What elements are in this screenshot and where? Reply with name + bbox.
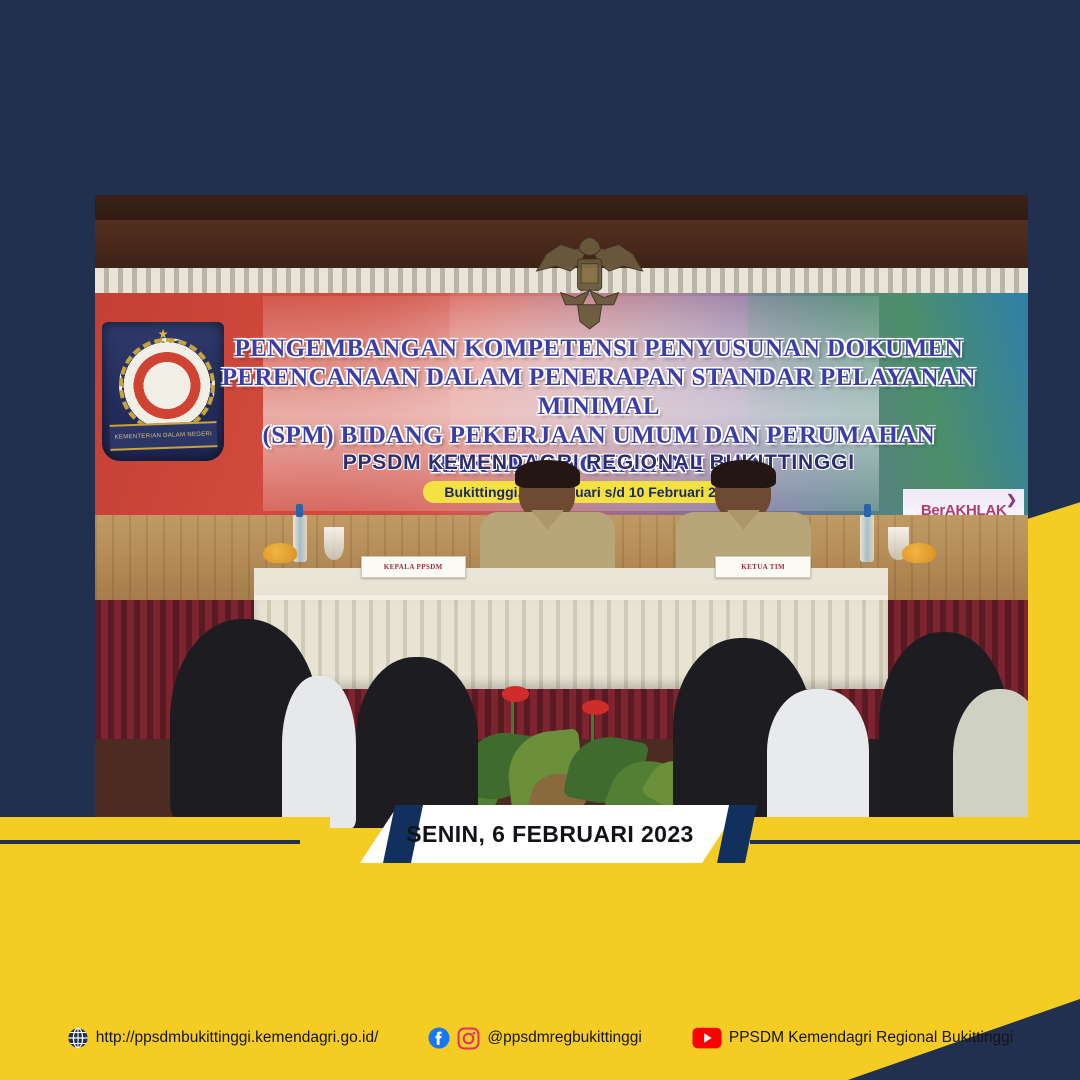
headline-line-2: PERENCANAAN DALAM PENERAPAN STANDAR PELA… <box>207 363 991 421</box>
website-item[interactable]: http://ppsdmbukittinggi.kemendagri.go.id… <box>67 1027 379 1049</box>
hair <box>515 460 579 488</box>
facebook-icon <box>428 1027 450 1049</box>
date-banner: SENIN, 6 FEBRUARI 2023 <box>0 805 1080 865</box>
chevron-right-icon: ❯ <box>1006 492 1017 508</box>
youtube-icon <box>692 1027 722 1049</box>
audience-silhouette <box>356 657 477 828</box>
date-banner-yellow-left <box>0 817 330 851</box>
social-handle: @ppsdmregbukittinggi <box>487 1029 641 1047</box>
social-item[interactable]: @ppsdmregbukittinggi <box>428 1027 641 1050</box>
youtube-channel: PPSDM Kemendagri Regional Bukittinggi <box>729 1029 1013 1047</box>
drinking-glass <box>324 527 345 560</box>
red-flower <box>582 700 610 715</box>
water-bottle <box>860 515 874 562</box>
nameplate-ketua-tim: KETUA TIM <box>715 556 810 578</box>
date-banner-yellow-right <box>720 817 1080 851</box>
date-banner-rule-right <box>750 840 1080 844</box>
nameplate-kepala-ppsdm: KEPALA PPSDM <box>361 556 466 578</box>
footer-bar: http://ppsdmbukittinggi.kemendagri.go.id… <box>0 1012 1080 1064</box>
poster-canvas: KEMENTERIAN DALAM NEGERI PENGEMBANGAN KO… <box>0 0 1080 1080</box>
youtube-item[interactable]: PPSDM Kemendagri Regional Bukittinggi <box>692 1027 1013 1049</box>
headline-line-1: PENGEMBANGAN KOMPETENSI PENYUSUNAN DOKUM… <box>207 334 991 363</box>
date-text: SENIN, 6 FEBRUARI 2023 <box>360 805 740 863</box>
snack-plate <box>902 543 936 563</box>
kemendagri-ribbon-label: KEMENTERIAN DALAM NEGERI <box>109 422 217 452</box>
website-url: http://ppsdmbukittinggi.kemendagri.go.id… <box>96 1029 379 1047</box>
hair <box>711 460 775 488</box>
wreath-icon <box>119 338 214 432</box>
globe-icon <box>67 1027 89 1049</box>
instagram-icon <box>457 1027 480 1050</box>
garuda-pancasila-icon <box>515 230 664 331</box>
snack-plate <box>263 543 297 563</box>
date-banner-rule-left <box>0 840 300 844</box>
red-flower <box>502 686 530 701</box>
kemendagri-logo: KEMENTERIAN DALAM NEGERI <box>102 322 223 461</box>
event-photo: KEMENTERIAN DALAM NEGERI PENGEMBANGAN KO… <box>95 195 1028 828</box>
